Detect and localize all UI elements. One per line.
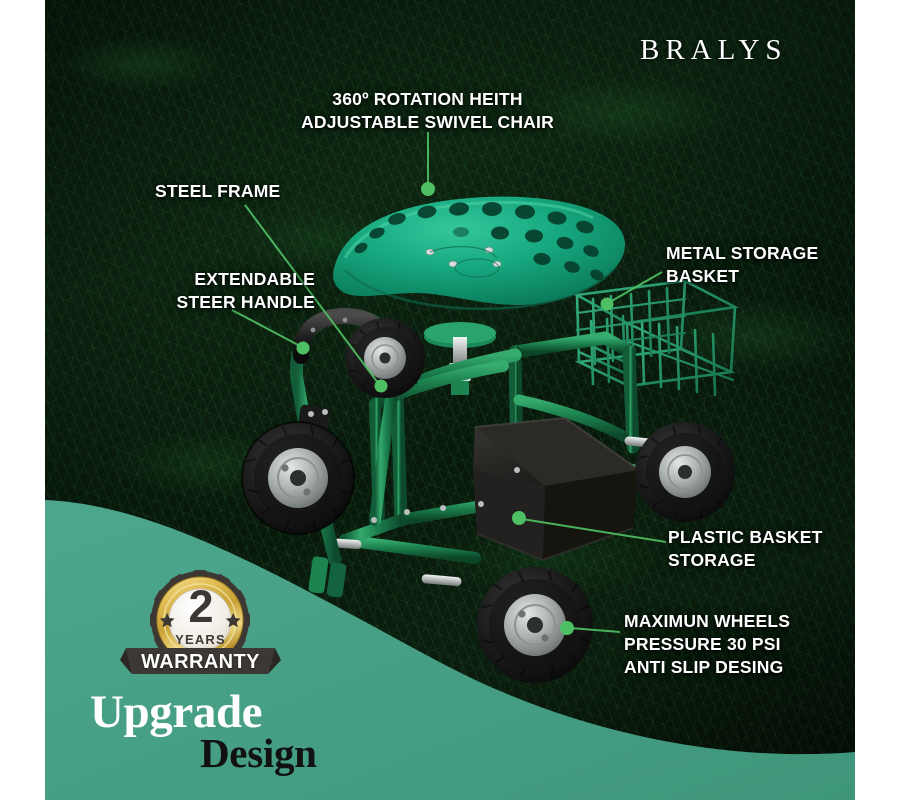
warranty-ribbon (120, 648, 281, 674)
headline-design: Design (200, 733, 510, 774)
callout-label-metal-basket: METAL STORAGE BASKET (666, 242, 866, 288)
leader-line-metal (610, 272, 662, 302)
warranty-badge-graphic (118, 562, 283, 682)
callout-label-steel-frame: STEEL FRAME (155, 180, 355, 203)
dot-swivel (421, 182, 435, 196)
leader-line-plastic (522, 519, 666, 542)
callout-dots (297, 182, 614, 635)
leader-line-wheels (570, 628, 620, 632)
warranty-badge: 2 YEARS WARRANTY (118, 562, 283, 682)
callout-label-plastic-basket: PLASTIC BASKET STORAGE (668, 526, 868, 572)
headline-upgrade: Upgrade (90, 690, 510, 735)
dot-steel (375, 380, 388, 393)
brand-logo: BRALYS (640, 34, 788, 67)
dot-wheels (560, 621, 574, 635)
callout-label-swivel-chair: 360º ROTATION HEITH ADJUSTABLE SWIVEL CH… (300, 88, 555, 134)
callout-label-steer-handle: EXTENDABLE STEER HANDLE (100, 268, 315, 314)
callout-label-wheels: MAXIMUN WHEELS PRESSURE 30 PSI ANTI SLIP… (624, 610, 839, 678)
infographic-canvas: BRALYS 360º ROTATION HEITH ADJUSTABLE SW… (0, 0, 900, 800)
dot-plastic (512, 511, 526, 525)
headline-block: Upgrade Design (90, 690, 510, 774)
dot-metal (601, 298, 614, 311)
leader-line-handle (232, 310, 300, 346)
dot-handle (297, 342, 310, 355)
